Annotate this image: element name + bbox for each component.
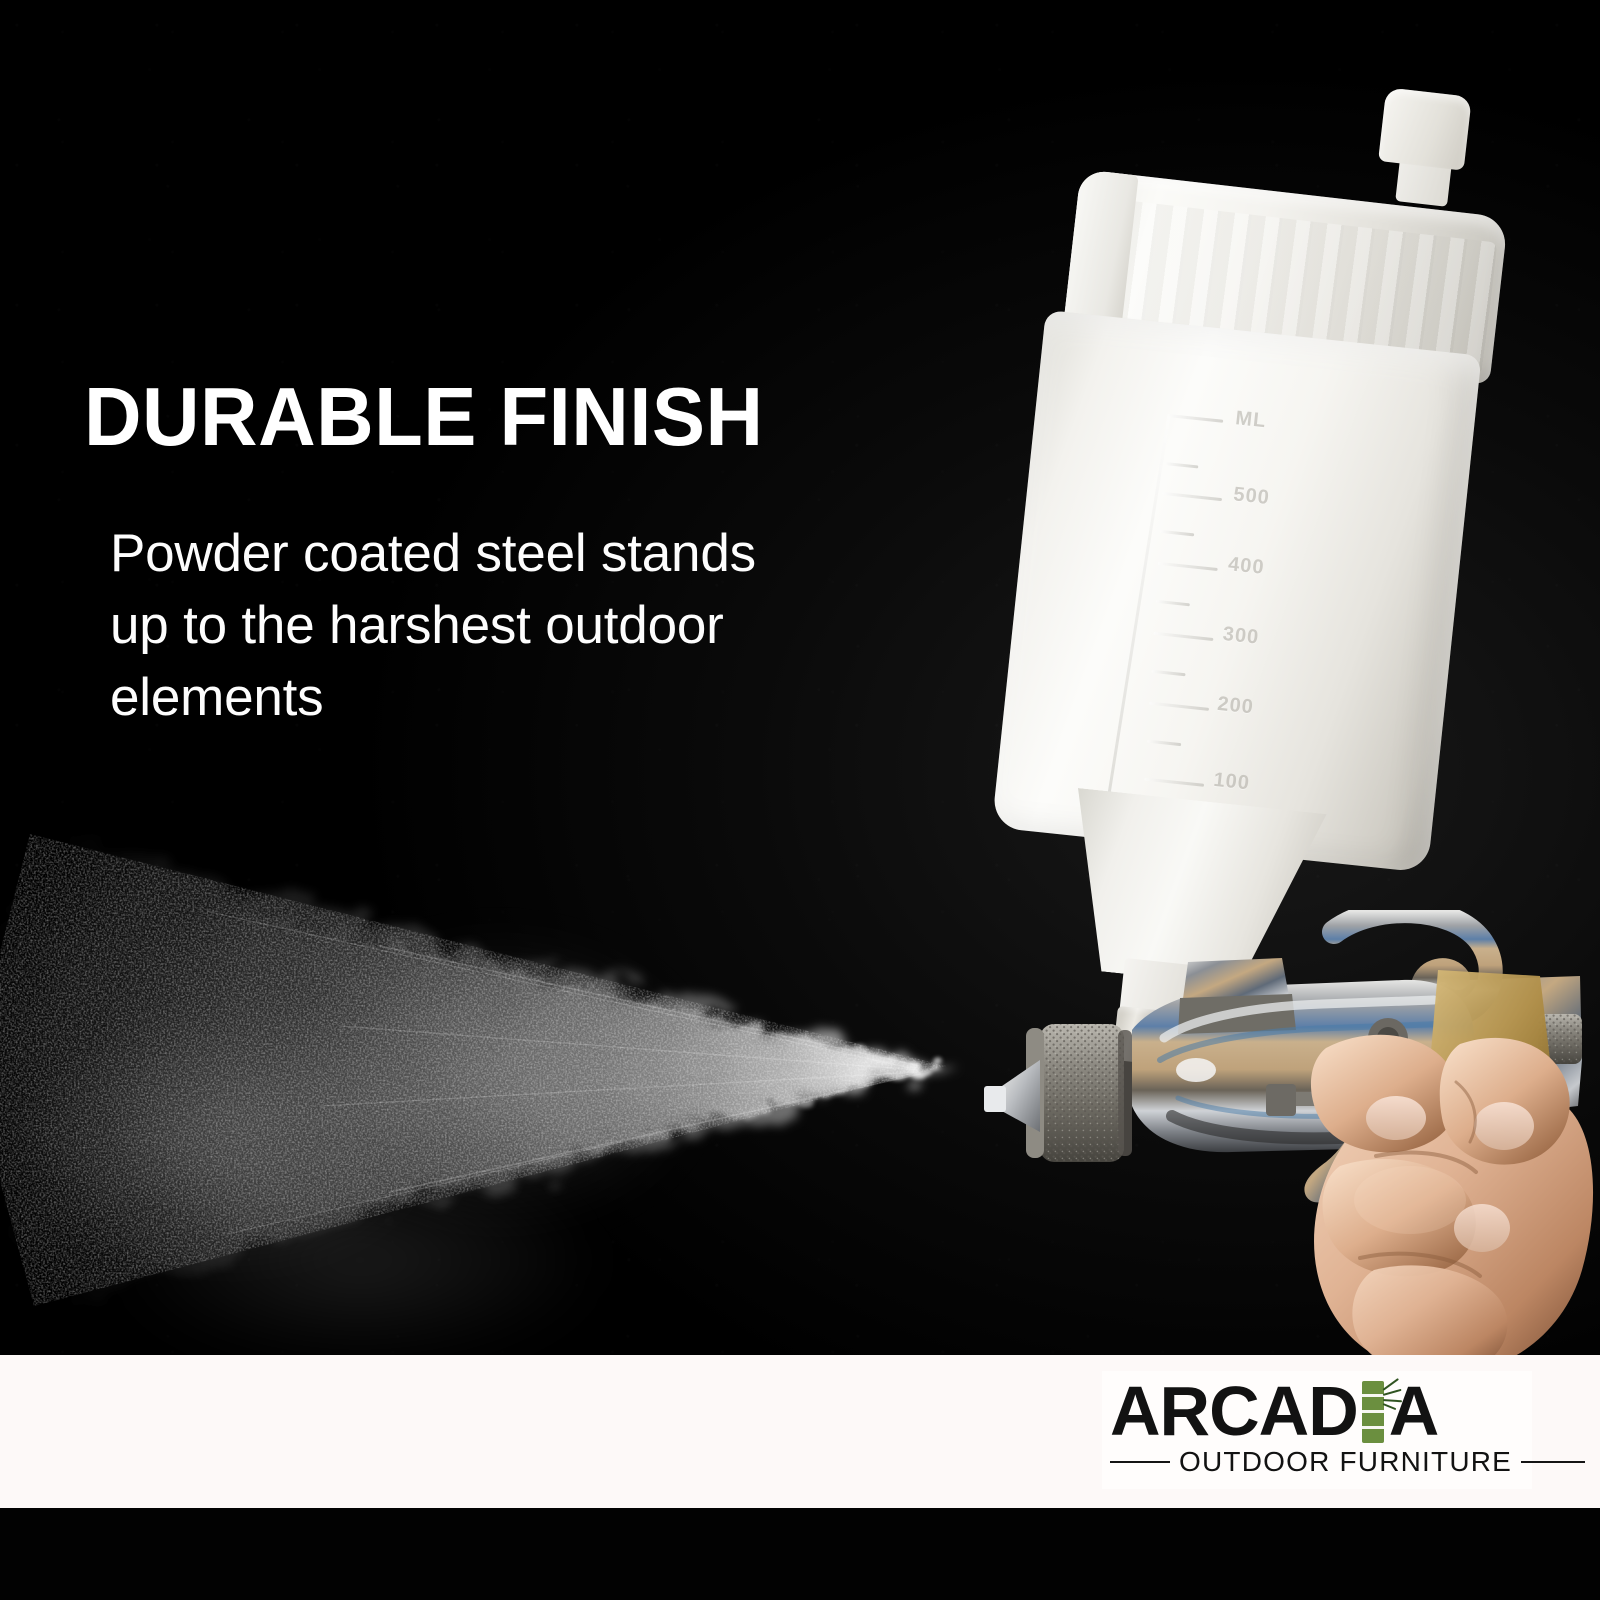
scale-tick-label: 500	[1232, 483, 1271, 510]
body-copy-line: up to the harshest outdoor	[110, 590, 910, 662]
scale-tick-label: 100	[1212, 769, 1251, 796]
scale-tick-label: 400	[1227, 553, 1266, 580]
body-copy-line: elements	[110, 662, 910, 734]
tagline-rule-right	[1521, 1461, 1585, 1463]
hand-gripping-gun	[1270, 970, 1600, 1380]
vent-cap	[1378, 87, 1472, 170]
bamboo-stalk-icon	[1362, 1381, 1384, 1443]
scale-tick-label: 200	[1216, 693, 1255, 720]
footer-bottom-strip	[0, 1508, 1600, 1600]
spray-gun-photo: ML 500 400 300 200 100	[930, 140, 1600, 1380]
tagline-rule-left	[1110, 1461, 1170, 1463]
body-copy: Powder coated steel stands up to the har…	[110, 518, 910, 734]
brand-tagline-row: OUTDOOR FURNITURE	[1110, 1445, 1524, 1479]
body-copy-line: Powder coated steel stands	[110, 518, 910, 590]
promo-card: DURABLE FINISH Powder coated steel stand…	[0, 0, 1600, 1600]
headline: DURABLE FINISH	[84, 378, 764, 457]
brand-wordmark-suffix: A	[1389, 1379, 1439, 1443]
brand-logo[interactable]: ARCAD A OUTDOOR FURNITURE	[1102, 1371, 1532, 1489]
brand-wordmark-prefix: ARCAD	[1110, 1379, 1358, 1443]
brand-tagline: OUTDOOR FURNITURE	[1179, 1446, 1512, 1478]
scale-unit-label: ML	[1234, 407, 1267, 433]
scale-tick-label: 300	[1222, 623, 1261, 650]
brand-wordmark: ARCAD A	[1110, 1375, 1438, 1443]
